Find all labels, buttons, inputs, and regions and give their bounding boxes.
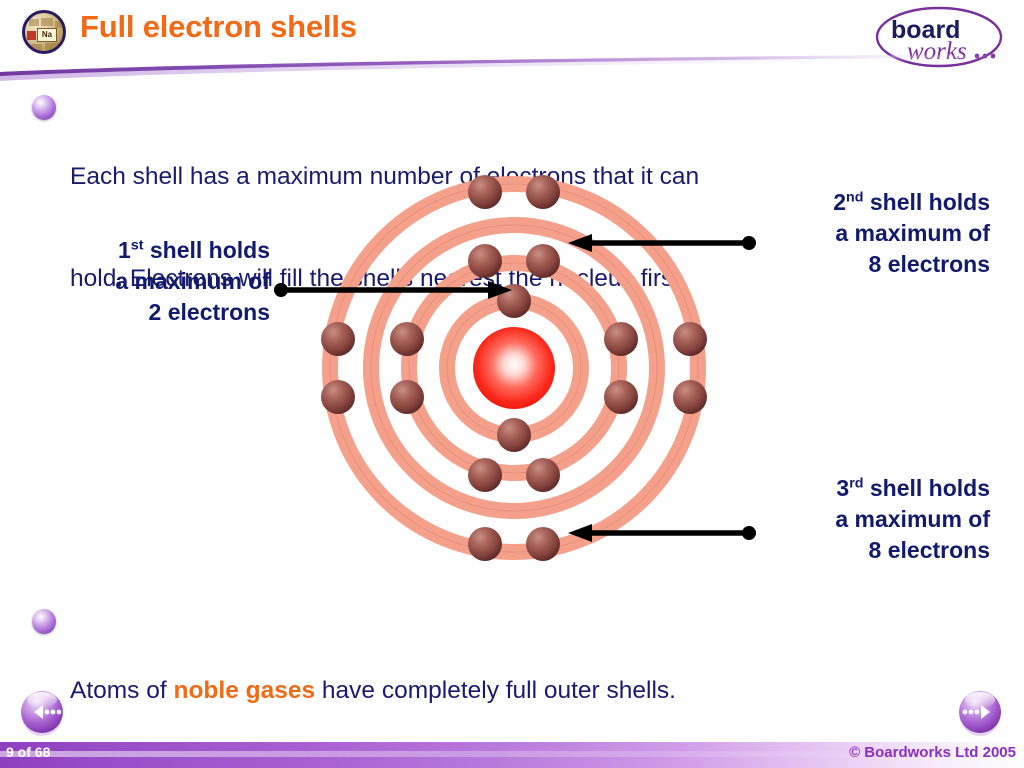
ordinal-suffix: st bbox=[131, 237, 144, 253]
callout-shell-3-line-2: a maximum of bbox=[740, 504, 990, 535]
callout-shell-1-line-2: a maximum of bbox=[20, 266, 270, 297]
callout-shell-1-line-1: 1st shell holds bbox=[20, 235, 270, 266]
ordinal-suffix: nd bbox=[846, 189, 863, 205]
atom-shell-diagram bbox=[318, 172, 710, 564]
ordinal-number: 2 bbox=[833, 189, 846, 215]
callout-shell-2-line-2: a maximum of bbox=[740, 218, 990, 249]
periodic-table-icon: Na bbox=[22, 10, 66, 54]
callout-shell-3-line-1: 3rd shell holds bbox=[740, 473, 990, 504]
ordinal-number: 3 bbox=[836, 475, 849, 501]
page-number: 9 of 68 bbox=[6, 744, 50, 760]
next-slide-button[interactable] bbox=[956, 686, 1004, 740]
bullet-marker-intro bbox=[32, 95, 56, 120]
callout-shell-2: 2nd shell holds a maximum of 8 electrons bbox=[740, 187, 990, 280]
conclusion-highlight-noble-gases: noble gases bbox=[173, 677, 315, 704]
ordinal-number: 1 bbox=[118, 237, 131, 263]
ordinal-suffix: rd bbox=[849, 475, 863, 491]
callout-shell-1-line-3: 2 electrons bbox=[20, 297, 270, 328]
previous-slide-button[interactable] bbox=[18, 686, 66, 740]
callout-shell-3: 3rd shell holds a maximum of 8 electrons bbox=[740, 473, 990, 566]
page-title: Full electron shells bbox=[80, 9, 357, 45]
callout-shell-2-line-1: 2nd shell holds bbox=[740, 187, 990, 218]
conclusion-text-part2: have completely full outer shells. bbox=[315, 677, 676, 704]
conclusion-line-1: Atoms of noble gases have completely ful… bbox=[70, 674, 990, 708]
copyright-notice: © Boardworks Ltd 2005 bbox=[849, 744, 1016, 761]
callout-shell-1: 1st shell holds a maximum of 2 electrons bbox=[20, 235, 270, 328]
callout-shell-2-rest: shell holds bbox=[863, 189, 990, 215]
header-divider-swoosh bbox=[0, 50, 1024, 90]
callout-shell-1-rest: shell holds bbox=[143, 237, 270, 263]
bullet-marker-conclusion bbox=[32, 609, 56, 634]
callout-shell-3-line-3: 8 electrons bbox=[740, 535, 990, 566]
nucleus bbox=[473, 327, 555, 409]
conclusion-text-part1: Atoms of bbox=[70, 677, 173, 704]
callout-shell-2-line-3: 8 electrons bbox=[740, 249, 990, 280]
callout-shell-3-rest: shell holds bbox=[863, 475, 990, 501]
slide-canvas: Na Full electron shells board works bbox=[0, 0, 1024, 768]
element-symbol-na: Na bbox=[37, 28, 57, 42]
